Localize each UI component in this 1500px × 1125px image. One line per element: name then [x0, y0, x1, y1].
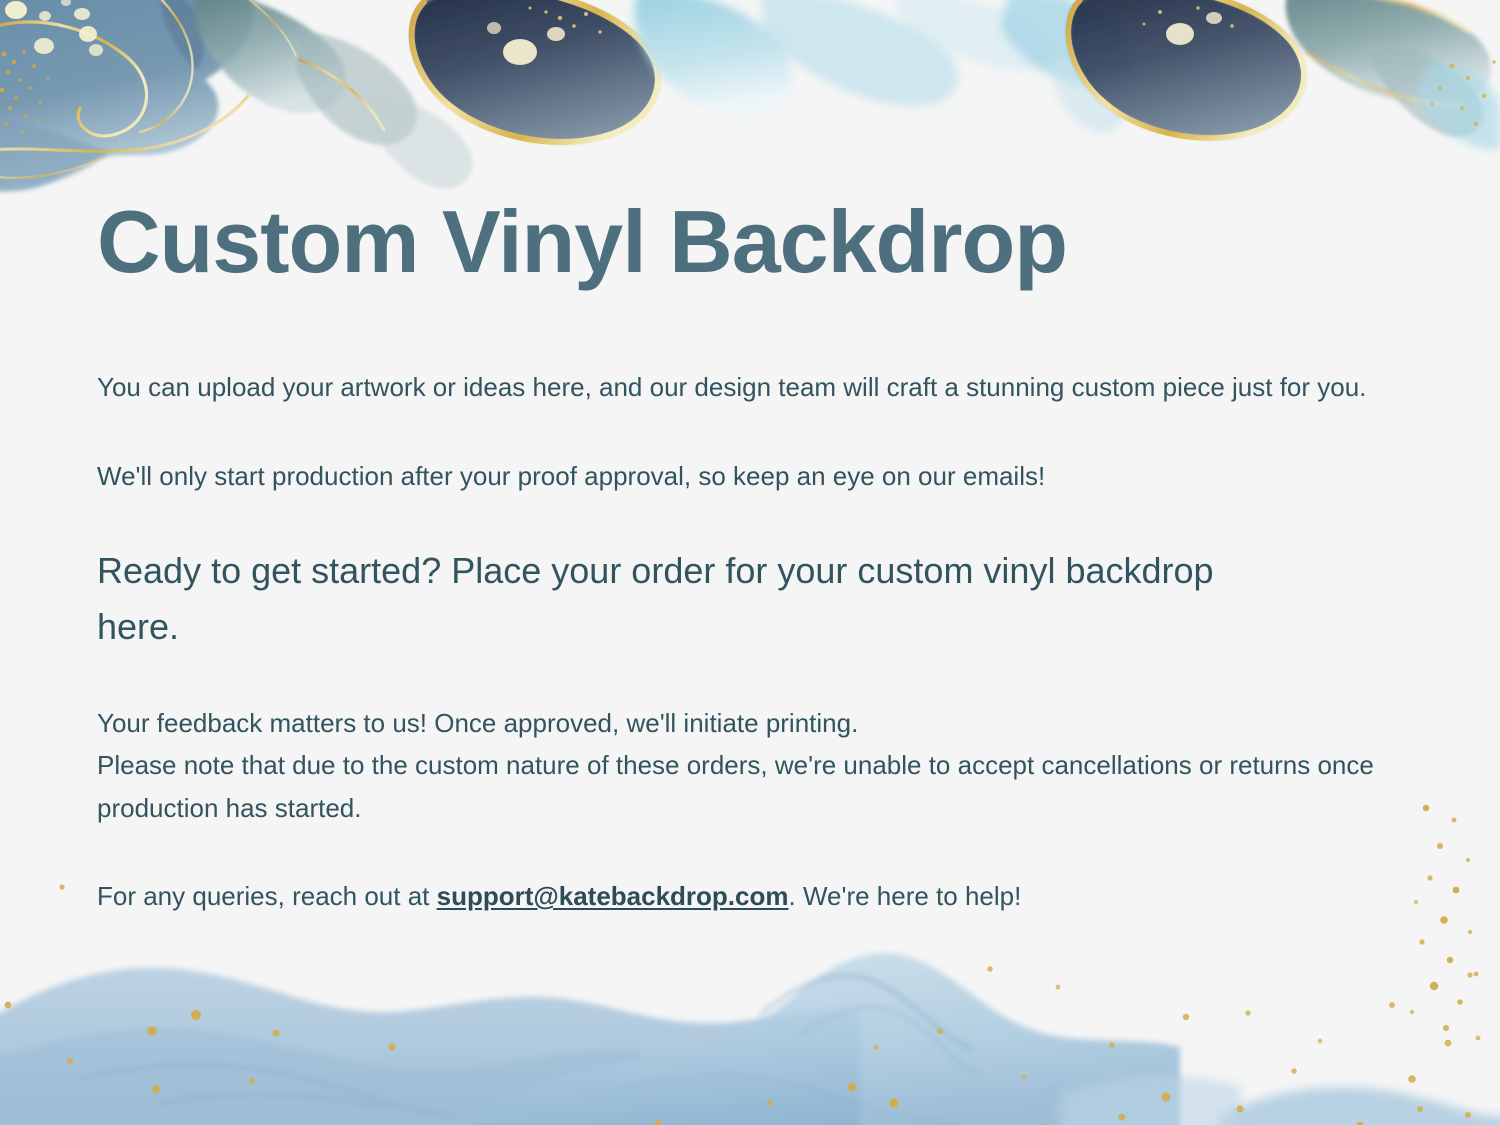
paragraph-cta-lead: Ready to get started? Place your order f… [97, 543, 1277, 657]
contact-suffix-text: . We're here to help! [789, 881, 1022, 911]
paragraph-intro: You can upload your artwork or ideas her… [97, 366, 1397, 408]
support-email-link[interactable]: support@katebackdrop.com [437, 881, 789, 911]
paragraph-contact: For any queries, reach out at support@ka… [97, 875, 1397, 917]
content-area: Custom Vinyl Backdrop You can upload you… [97, 196, 1417, 917]
paragraph-policy: Please note that due to the custom natur… [97, 744, 1397, 828]
contact-prefix-text: For any queries, reach out at [97, 881, 437, 911]
paragraph-feedback: Your feedback matters to us! Once approv… [97, 702, 1397, 744]
page-canvas: Custom Vinyl Backdrop You can upload you… [0, 0, 1500, 1125]
body-copy: You can upload your artwork or ideas her… [97, 366, 1417, 916]
page-title: Custom Vinyl Backdrop [97, 196, 1417, 288]
paragraph-production: We'll only start production after your p… [97, 455, 1397, 497]
